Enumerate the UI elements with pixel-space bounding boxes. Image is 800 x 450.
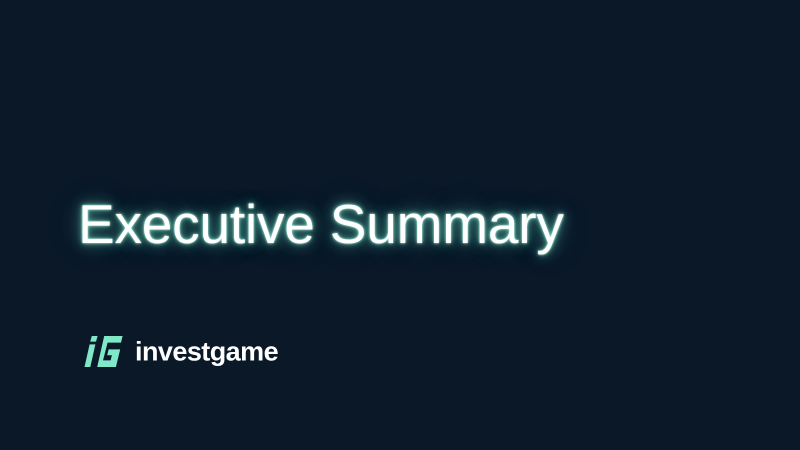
title-slide: Executive Summary investgame xyxy=(0,0,800,450)
page-title: Executive Summary xyxy=(78,196,564,254)
investgame-logo: investgame xyxy=(84,334,278,368)
investgame-wordmark: investgame xyxy=(135,338,278,365)
title-block: Executive Summary xyxy=(78,186,698,264)
investgame-ig-monogram-icon xyxy=(84,336,123,367)
